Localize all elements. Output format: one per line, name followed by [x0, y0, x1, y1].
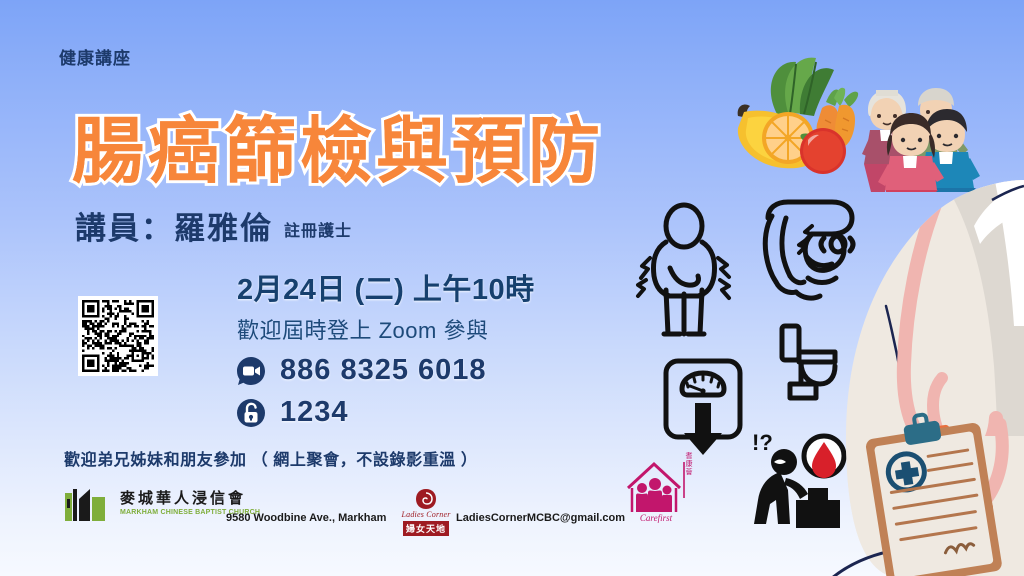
- church-address: 9580 Woodbine Ave., Markham: [226, 512, 386, 524]
- vegetables-fruit-illustration: [722, 44, 870, 176]
- church-name-zh: 麥城華人浸信會: [120, 491, 260, 507]
- walking-family-illustration: [862, 76, 982, 192]
- ladies-corner-logo: Ladies Corner 婦女天地: [400, 487, 452, 537]
- page-title-fill: 腸癌篩檢與預防: [72, 92, 604, 197]
- passcode-row: 1234: [236, 396, 349, 429]
- ladies-corner-zh: 婦女天地: [403, 521, 449, 536]
- contact-email: LadiesCornerMCBC@gmail.com: [456, 512, 625, 524]
- church-mark-icon: [63, 487, 113, 521]
- rose-icon: [411, 487, 441, 511]
- doctor-with-clipboard-illustration: [824, 186, 1024, 576]
- health-seminar-poster: !?: [0, 0, 1024, 576]
- speaker-name: 講員：羅雅倫: [75, 203, 273, 248]
- meeting-id-value: 886 8325 6018: [280, 354, 487, 387]
- carefirst-zh: 耆康薈: [685, 452, 692, 476]
- passcode-value: 1234: [280, 396, 349, 429]
- carefirst-name: Carefirst: [618, 513, 694, 523]
- open-lock-icon: [236, 398, 266, 428]
- kicker-label: 健康講座: [59, 44, 131, 69]
- event-datetime: 2月24日 (二) 上午10時: [237, 266, 535, 308]
- weight-scale-down-icon: [660, 355, 746, 451]
- meeting-id-row: 886 8325 6018: [236, 354, 487, 387]
- welcome-note: 歡迎弟兄姊妹和朋友參加 （ 網上聚會，不設錄影重溫 ）: [64, 446, 478, 470]
- svg-text:!?: !?: [752, 430, 773, 455]
- zoom-invitation-line: 歡迎屆時登上 Zoom 參與: [237, 313, 488, 345]
- speaker-role: 註冊護士: [284, 217, 352, 241]
- ladies-corner-script: Ladies Corner: [400, 510, 452, 519]
- abdominal-pain-person-icon: [636, 202, 732, 340]
- video-camera-icon: [236, 356, 266, 386]
- qr-code[interactable]: [78, 296, 158, 376]
- carefirst-logo: 耆康薈 Carefirst: [618, 448, 694, 524]
